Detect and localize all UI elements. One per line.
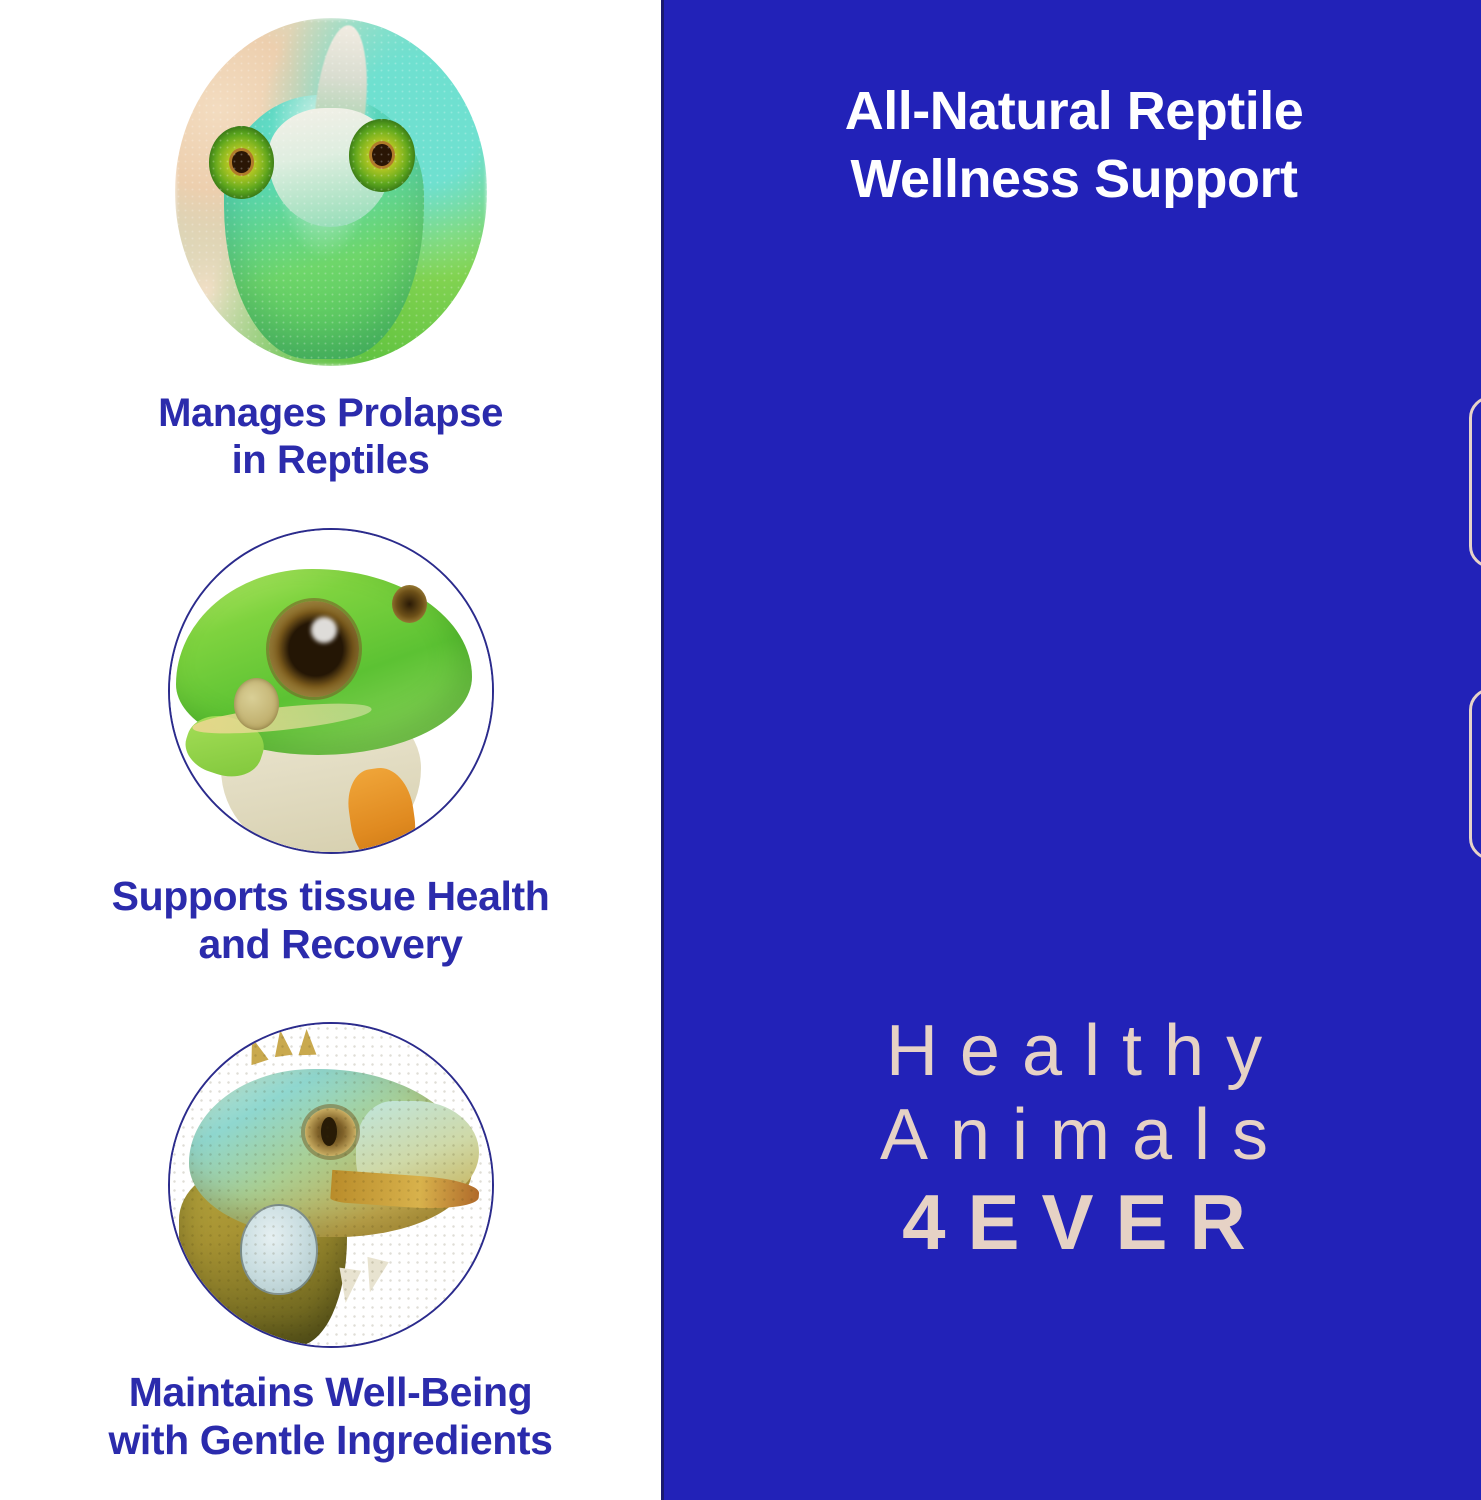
iguana-scale-texture [170, 1024, 492, 1346]
chameleon-photo [175, 18, 487, 366]
feature-caption-1: Manages Prolapse in Reptiles [11, 366, 651, 484]
feature-caption-1-line1: Manages Prolapse [11, 390, 651, 437]
page-title-line1: All-Natural Reptile [698, 78, 1450, 146]
feature-caption-1-line2: in Reptiles [11, 437, 651, 484]
frog-eye-highlight [311, 617, 337, 643]
feature-caption-2-line2: and Recovery [11, 920, 651, 968]
right-blue-panel: All-Natural Reptile Wellness Support [661, 0, 1481, 1500]
brand-logo-line1: Healthy [664, 1010, 1481, 1094]
iguana-illustration [170, 1024, 492, 1346]
feature-block-2: Supports tissue Health and Recovery [0, 528, 661, 969]
brand-logo: Healthy Animals 4EVER [664, 1010, 1481, 1268]
frog-illustration [170, 530, 492, 852]
feature-caption-3-line2: with Gentle Ingredients [11, 1416, 651, 1464]
chameleon-scale-texture [175, 18, 487, 366]
left-feature-column: Manages Prolapse in Reptiles [0, 0, 661, 1500]
feature-caption-2: Supports tissue Health and Recovery [11, 854, 651, 969]
feature-caption-2-line1: Supports tissue Health [11, 872, 651, 920]
page-title-line2: Wellness Support [698, 146, 1450, 214]
brand-logo-line2: Animals [664, 1094, 1481, 1178]
frog-eye-far [392, 585, 427, 624]
badge-natural-care: Natural Care for Prolapse Issues [1469, 396, 1481, 568]
iguana-photo [168, 1022, 494, 1348]
tree-frog-photo [168, 528, 494, 854]
feature-block-1: Manages Prolapse in Reptiles [0, 18, 661, 484]
page-title: All-Natural Reptile Wellness Support [664, 78, 1481, 213]
chameleon-illustration [175, 18, 487, 366]
feature-caption-3: Maintains Well-Being with Gentle Ingredi… [11, 1348, 651, 1465]
product-infographic: Manages Prolapse in Reptiles [0, 0, 1481, 1500]
badge-natural-ingredients: Made with all Natural Ingredients [1469, 688, 1481, 860]
feature-caption-3-line1: Maintains Well-Being [11, 1368, 651, 1416]
feature-block-3: Maintains Well-Being with Gentle Ingredi… [0, 1022, 661, 1465]
frog-tympanum [234, 678, 279, 730]
brand-logo-line3: 4EVER [664, 1177, 1481, 1267]
